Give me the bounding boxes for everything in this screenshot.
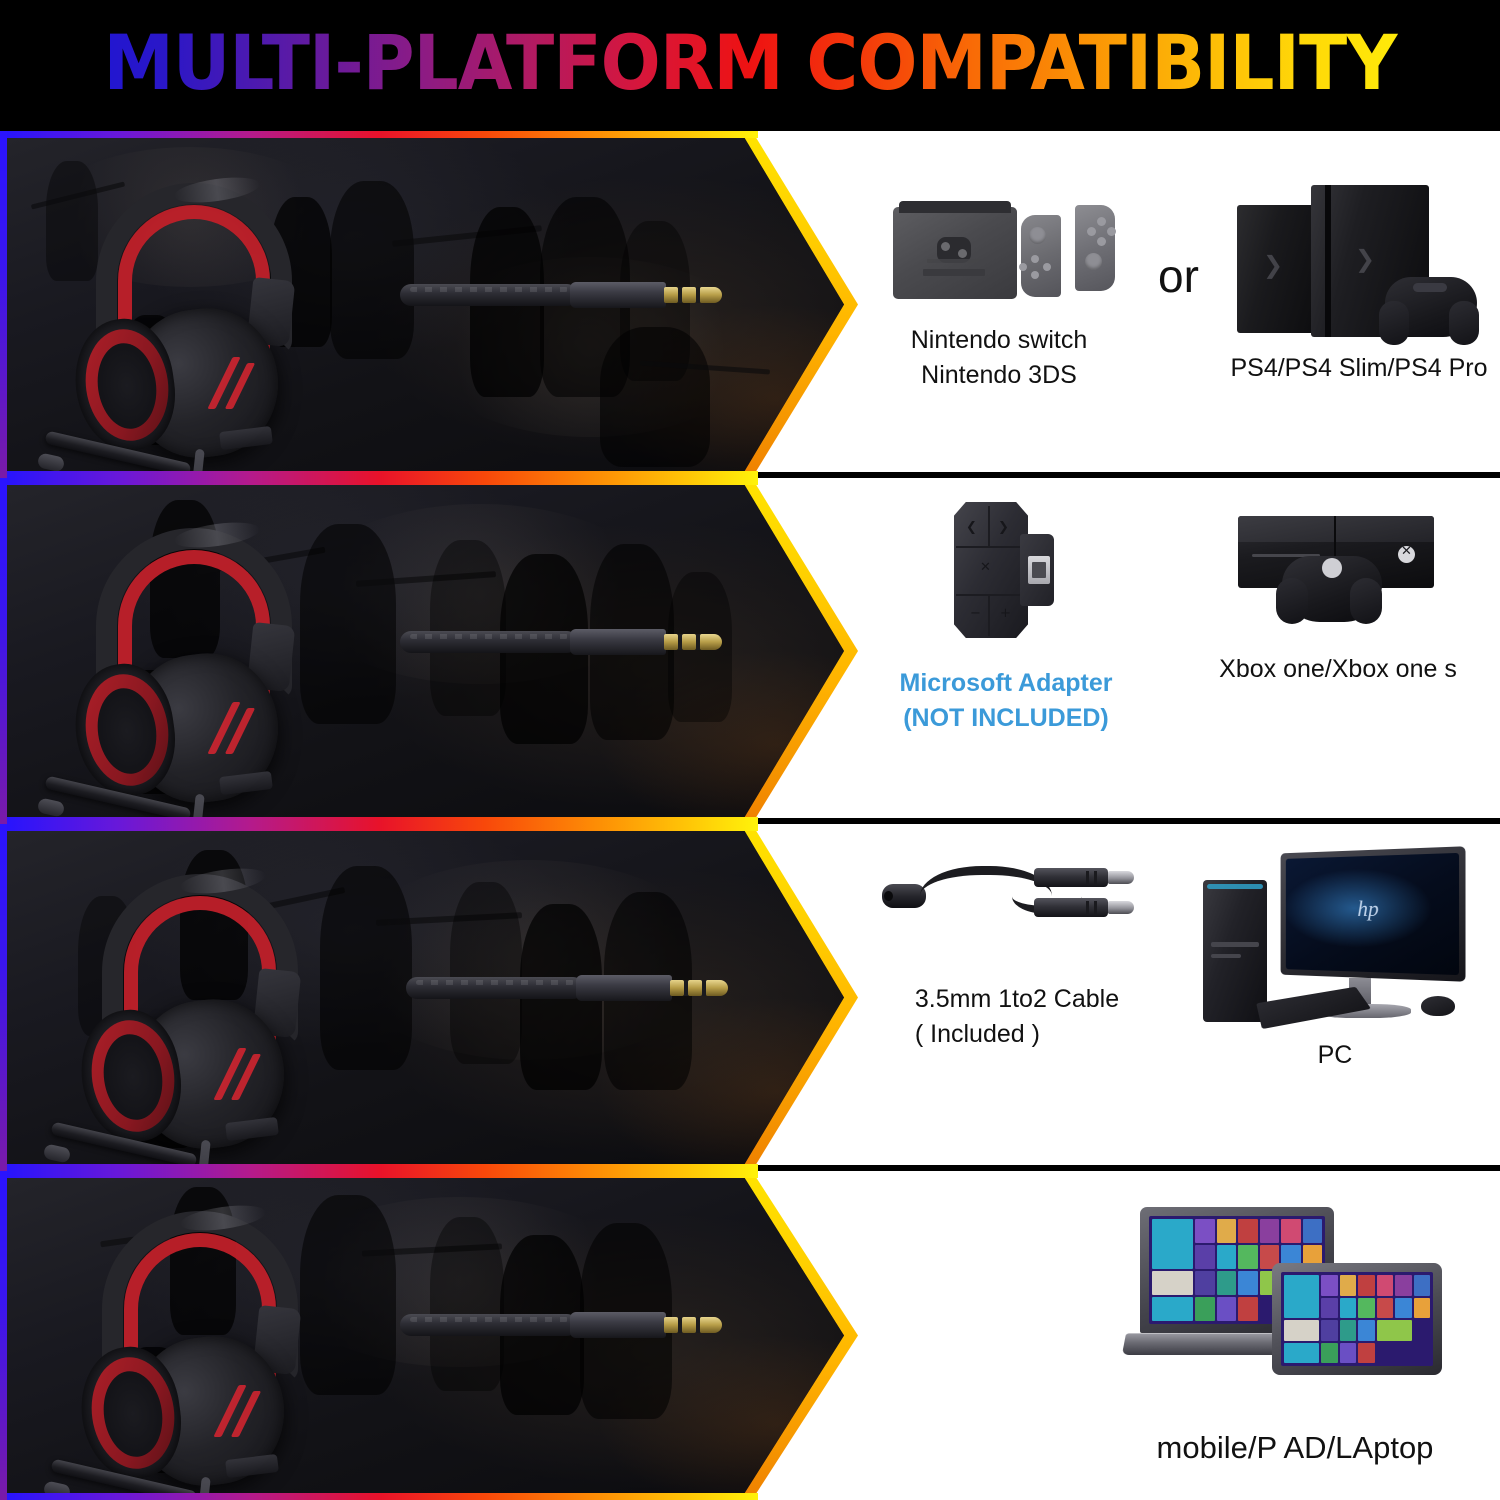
gaming-headset-product-image xyxy=(24,161,324,472)
desktop-pc-icon xyxy=(1203,844,1467,1030)
chevron-arrow-frame xyxy=(0,131,858,478)
header-banner: MULTI-PLATFORM COMPATIBILITY xyxy=(0,0,1500,131)
chevron-image-clip xyxy=(0,1177,844,1494)
page-title: MULTI-PLATFORM COMPATIBILITY xyxy=(53,0,1448,131)
jack-contact xyxy=(664,287,678,303)
audio-jack-connector xyxy=(400,622,700,662)
microsoft-adapter-icon: ❮ ❯ ✕ − + xyxy=(954,502,1058,642)
chevron-image-clip xyxy=(0,484,844,818)
device-pc[interactable]: PC xyxy=(1190,844,1480,1073)
device-laptop-tablet[interactable]: mobile/P AD/LAptop xyxy=(1130,1207,1460,1470)
device-panel-pc: 3.5mm 1to2 Cable ( Included ) PC xyxy=(858,824,1500,1171)
device-microsoft-adapter[interactable]: ❮ ❯ ✕ − + Microsoft Adapter (NOT INCLUDE… xyxy=(886,502,1126,735)
gaming-headset-product-image xyxy=(30,852,330,1165)
device-label-line: PS4/PS4 Slim/PS4 Pro xyxy=(1230,351,1487,386)
gaming-headset-product-image xyxy=(30,1189,330,1494)
cable-plug xyxy=(1034,898,1108,917)
windows-start-screen xyxy=(1281,1272,1433,1366)
compatibility-row-mobile: mobile/P AD/LAptop xyxy=(0,1171,1500,1500)
compatibility-row-pc: 3.5mm 1to2 Cable ( Included ) PC xyxy=(0,824,1500,1171)
device-panel-xbox: ❮ ❯ ✕ − + Microsoft Adapter (NOT INCLUDE… xyxy=(858,478,1500,824)
device-label-line: ( Included ) xyxy=(915,1017,1119,1052)
device-label-line: (NOT INCLUDED) xyxy=(900,701,1113,736)
device-label-line: Nintendo 3DS xyxy=(911,358,1087,393)
device-label-line: 3.5mm 1to2 Cable xyxy=(915,982,1119,1017)
chevron-image-clip xyxy=(0,137,844,472)
audio-jack-connector xyxy=(400,275,700,315)
hero-image-panel xyxy=(0,131,858,478)
splitter-cable-icon xyxy=(882,854,1152,946)
nintendo-switch-console-icon xyxy=(879,193,1119,309)
device-label-line: mobile/P AD/LAptop xyxy=(1157,1427,1434,1470)
device-label-line: Nintendo switch xyxy=(911,323,1087,358)
chevron-arrow-frame xyxy=(0,824,858,1171)
device-label-line: Microsoft Adapter xyxy=(900,666,1113,701)
audio-jack-connector xyxy=(400,1305,700,1345)
device-panel-mobile: mobile/P AD/LAptop xyxy=(858,1171,1500,1500)
chevron-arrow-frame xyxy=(0,478,858,824)
jack-barrel xyxy=(570,282,666,308)
chevron-arrow-frame xyxy=(0,1171,858,1500)
jack-cable xyxy=(400,284,578,306)
ps4-console-icon: ❯ ❯ xyxy=(1237,179,1481,343)
hero-image-panel xyxy=(0,824,858,1171)
laptop-tablet-icon xyxy=(1140,1207,1450,1391)
xbox-one-console-icon xyxy=(1238,500,1438,628)
audio-jack-connector xyxy=(406,968,706,1008)
gaming-headset-product-image xyxy=(24,506,324,818)
device-xbox-one[interactable]: Xbox one/Xbox one s xyxy=(1208,500,1468,687)
device-label-line: Xbox one/Xbox one s xyxy=(1219,652,1457,687)
or-separator-label: or xyxy=(1158,249,1199,303)
device-label-line: PC xyxy=(1318,1038,1353,1073)
compatibility-row-nintendo-ps4: Nintendo switch Nintendo 3DS or ❯ ❯ PS4/… xyxy=(0,131,1500,478)
jack-tip xyxy=(700,287,722,303)
hero-image-panel xyxy=(0,478,858,824)
jack-contact xyxy=(682,287,696,303)
chevron-image-clip xyxy=(0,830,844,1165)
device-splitter-cable[interactable]: 3.5mm 1to2 Cable ( Included ) xyxy=(882,854,1152,1051)
cable-plug xyxy=(1034,868,1108,887)
device-panel-nintendo-ps4: Nintendo switch Nintendo 3DS or ❯ ❯ PS4/… xyxy=(858,131,1500,478)
device-ps4[interactable]: ❯ ❯ PS4/PS4 Slim/PS4 Pro xyxy=(1228,179,1490,386)
microphone-tip xyxy=(37,452,66,472)
hero-image-panel xyxy=(0,1171,858,1500)
tablet-device xyxy=(1272,1263,1442,1375)
device-nintendo-switch[interactable]: Nintendo switch Nintendo 3DS xyxy=(874,193,1124,392)
compatibility-row-xbox: ❮ ❯ ✕ − + Microsoft Adapter (NOT INCLUDE… xyxy=(0,478,1500,824)
